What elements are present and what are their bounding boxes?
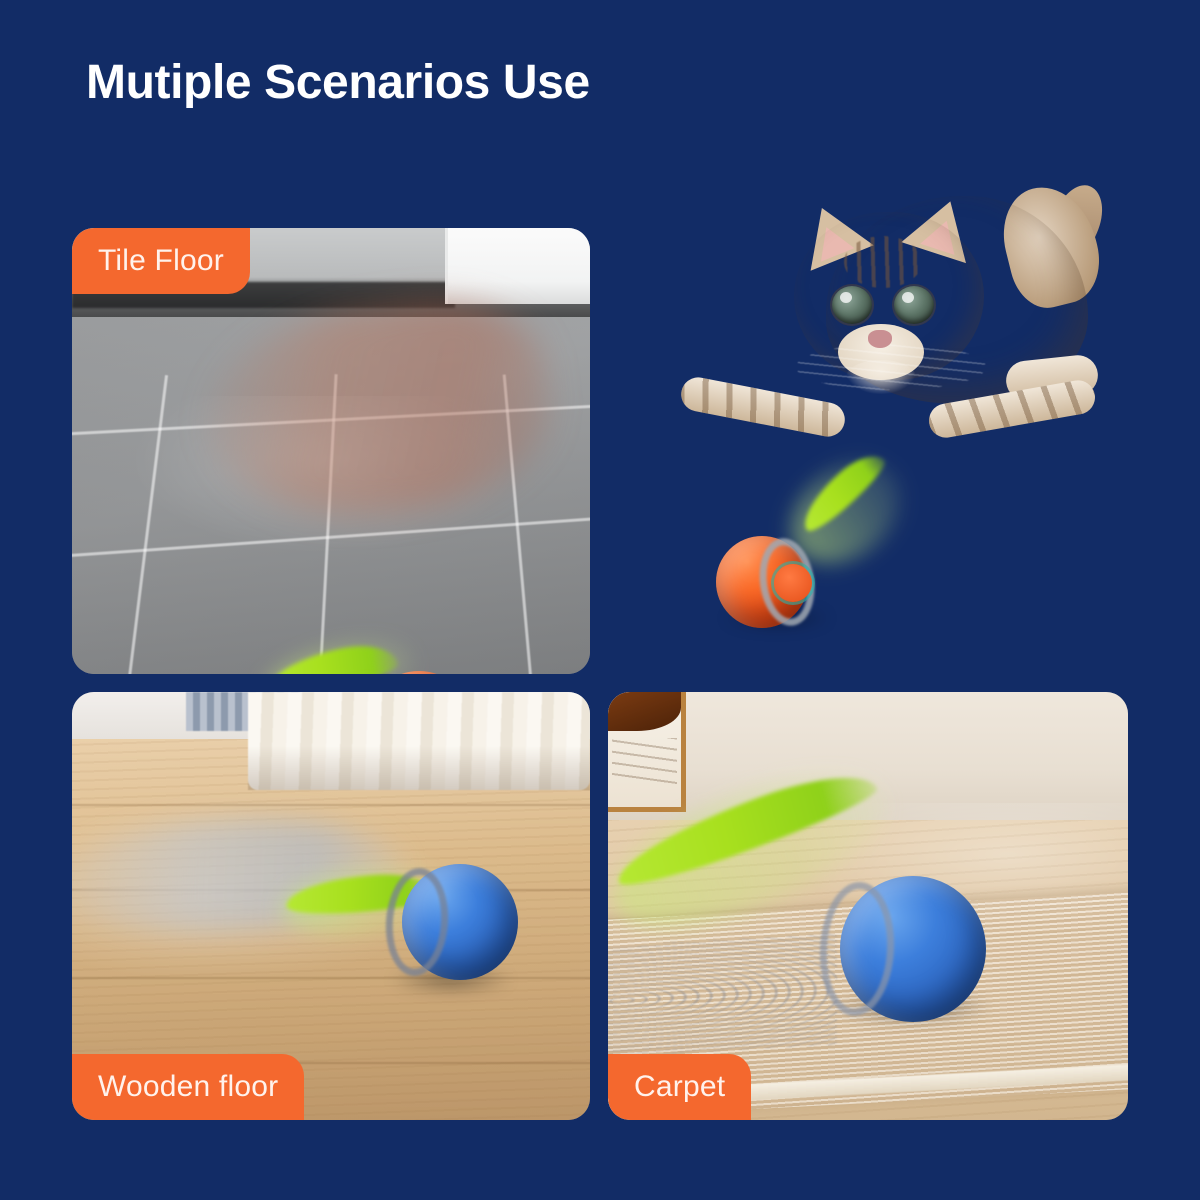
curtains [248, 692, 590, 790]
scenario-panel-wooden-floor[interactable]: Wooden floor [72, 692, 590, 1120]
rug-pattern [608, 934, 837, 1058]
badge-carpet: Carpet [608, 1054, 751, 1120]
wall-picture-frame [608, 692, 686, 812]
badge-tile-floor: Tile Floor [72, 228, 250, 294]
white-cabinet [445, 228, 590, 304]
frame-artwork-lines [612, 738, 676, 784]
cat-nose [868, 330, 892, 348]
cat-eye-left [832, 286, 872, 324]
frame-artwork [608, 692, 681, 731]
cat-ball-toy-orange [322, 643, 482, 674]
hero-cat-image [676, 178, 1096, 478]
cat-ball-toy-blue [344, 842, 524, 1002]
cat-ball-toy-blue [820, 820, 1040, 1050]
hero-cat-ball-toy [716, 522, 848, 634]
scenario-panel-tile-floor[interactable]: Tile Floor [72, 228, 590, 674]
badge-wooden-floor: Wooden floor [72, 1054, 304, 1120]
ball-button-icon [774, 564, 812, 602]
cat-forehead-stripes [844, 236, 922, 288]
cat-whiskers [796, 344, 986, 390]
cat-front-paw-left [678, 374, 847, 439]
page-title: Mutiple Scenarios Use [86, 57, 590, 110]
tile-floor-photo [72, 228, 590, 674]
scenario-panel-carpet[interactable]: Carpet [608, 692, 1128, 1120]
cat-eye-right [894, 286, 934, 324]
